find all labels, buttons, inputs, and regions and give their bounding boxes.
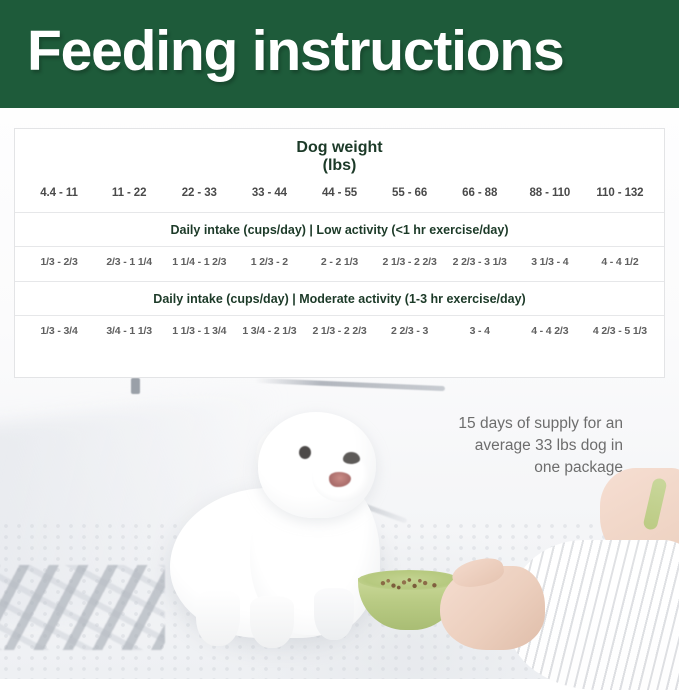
intake-cell: 2 2/3 - 3 1/3 bbox=[445, 256, 515, 268]
intake-cell: 2 1/3 - 2 2/3 bbox=[304, 325, 374, 337]
intake-cell: 1 1/4 - 1 2/3 bbox=[164, 256, 234, 268]
weight-column-header: 44 - 55 bbox=[304, 187, 374, 199]
intake-cell: 4 - 4 1/2 bbox=[585, 256, 655, 268]
intake-cell: 2 1/3 - 2 2/3 bbox=[375, 256, 445, 268]
section-title-moderate-activity: Daily intake (cups/day) | Moderate activ… bbox=[15, 282, 664, 315]
intake-cell: 1 1/3 - 1 3/4 bbox=[164, 325, 234, 337]
page-title: Feeding instructions bbox=[0, 23, 564, 80]
weight-column-header: 55 - 66 bbox=[375, 187, 445, 199]
floor-grate bbox=[0, 565, 165, 650]
intake-cell: 1 3/4 - 2 1/3 bbox=[234, 325, 304, 337]
dog-leg-rear bbox=[314, 588, 354, 640]
dog-weight-unit: (lbs) bbox=[15, 157, 664, 175]
supply-note-line-3: one package bbox=[418, 457, 623, 479]
background-clip bbox=[131, 378, 140, 394]
weight-column-header: 11 - 22 bbox=[94, 187, 164, 199]
intake-cell: 3 - 4 bbox=[445, 325, 515, 337]
weight-column-headers: 4.4 - 11 11 - 22 22 - 33 33 - 44 44 - 55… bbox=[15, 187, 664, 199]
section-title-low-activity: Daily intake (cups/day) | Low activity (… bbox=[15, 213, 664, 246]
intake-cell: 1 2/3 - 2 bbox=[234, 256, 304, 268]
intake-cell: 2 2/3 - 3 bbox=[375, 325, 445, 337]
dog-weight-header: Dog weight (lbs) bbox=[15, 129, 664, 175]
intake-cell: 4 - 4 2/3 bbox=[515, 325, 585, 337]
weight-column-header: 22 - 33 bbox=[164, 187, 234, 199]
intake-cell: 2 - 2 1/3 bbox=[304, 256, 374, 268]
weight-column-header: 66 - 88 bbox=[445, 187, 515, 199]
header-banner: Feeding instructions bbox=[0, 0, 679, 108]
intake-cell: 2/3 - 1 1/4 bbox=[94, 256, 164, 268]
intake-cell: 4 2/3 - 5 1/3 bbox=[585, 325, 655, 337]
supply-note-line-2: average 33 lbs dog in bbox=[418, 435, 623, 457]
intake-cell: 1/3 - 3/4 bbox=[24, 325, 94, 337]
dog-leg-front-left bbox=[196, 590, 240, 646]
dog-weight-title: Dog weight bbox=[296, 139, 382, 156]
feeding-chart-table: Dog weight (lbs) 4.4 - 11 11 - 22 22 - 3… bbox=[14, 128, 665, 378]
weight-column-header: 4.4 - 11 bbox=[24, 187, 94, 199]
supply-note-line-1: 15 days of supply for an bbox=[418, 413, 623, 435]
intake-cell: 3 1/3 - 4 bbox=[515, 256, 585, 268]
table-row-low-activity: 1/3 - 2/3 2/3 - 1 1/4 1 1/4 - 1 2/3 1 2/… bbox=[15, 247, 664, 268]
weight-column-header: 88 - 110 bbox=[515, 187, 585, 199]
table-row-moderate-activity: 1/3 - 3/4 3/4 - 1 1/3 1 1/3 - 1 3/4 1 3/… bbox=[15, 316, 664, 337]
dog-nose bbox=[343, 452, 360, 464]
weight-column-header: 110 - 132 bbox=[585, 187, 655, 199]
intake-cell: 3/4 - 1 1/3 bbox=[94, 325, 164, 337]
kibble-in-bowl bbox=[375, 576, 441, 592]
supply-note: 15 days of supply for an average 33 lbs … bbox=[418, 413, 623, 479]
dog-eye bbox=[299, 446, 311, 459]
weight-column-header: 33 - 44 bbox=[234, 187, 304, 199]
dog-leg-front-right bbox=[250, 596, 294, 648]
intake-cell: 1/3 - 2/3 bbox=[24, 256, 94, 268]
